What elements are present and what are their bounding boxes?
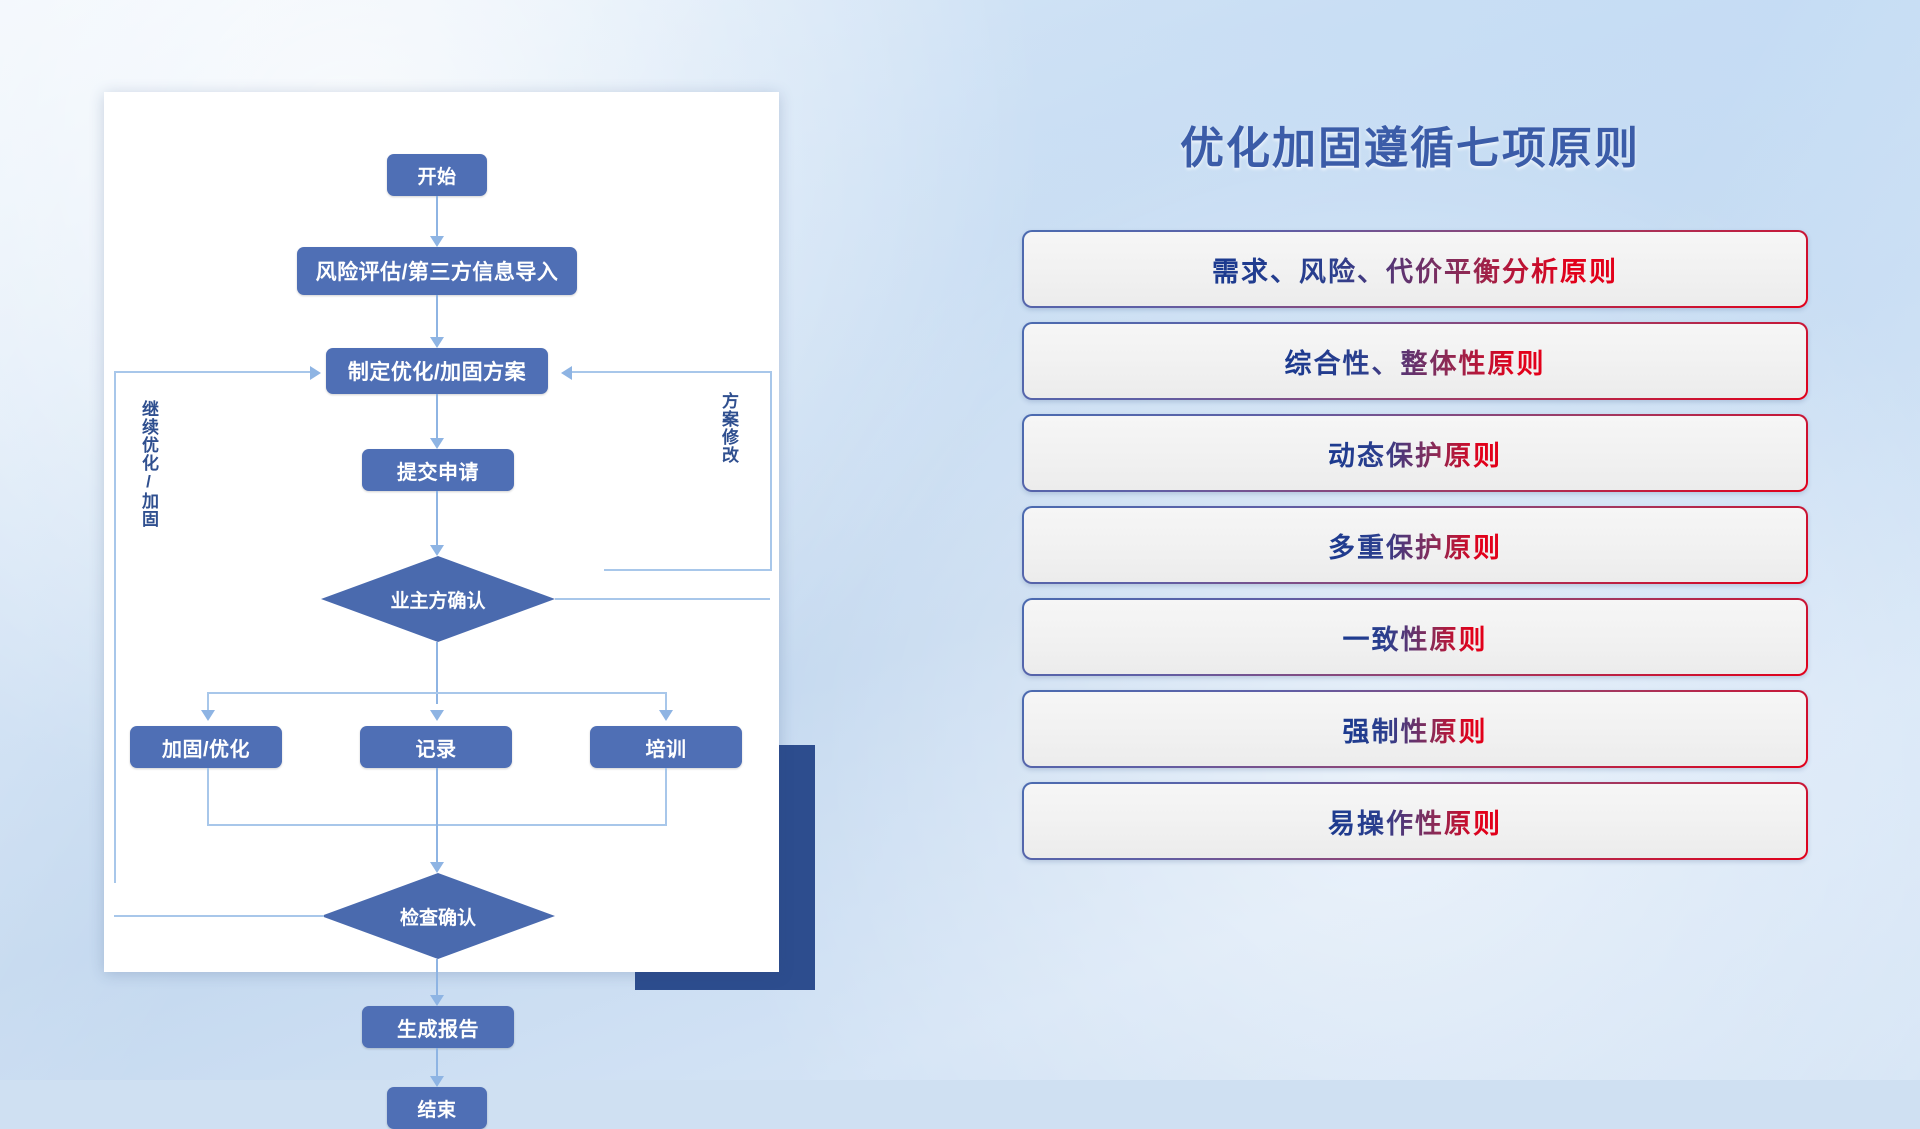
principle-card[interactable]: 易操作性原则 bbox=[1022, 782, 1808, 860]
connector-owner-right-loop bbox=[555, 598, 770, 600]
principle-label: 易操作性原则 bbox=[1328, 802, 1502, 841]
loop-left-vertical bbox=[114, 371, 116, 883]
flow-node-reinforce[interactable]: 加固/优化 bbox=[130, 726, 282, 768]
principle-card[interactable]: 综合性、整体性原则 bbox=[1022, 322, 1808, 400]
flowchart: 开始 风险评估/第三方信息导入 制定优化/加固方案 继续优化/加固 方案修改 提… bbox=[104, 92, 779, 972]
merge-left-down bbox=[207, 768, 209, 826]
flow-node-risk-assessment[interactable]: 风险评估/第三方信息导入 bbox=[297, 247, 577, 295]
arrow-down-icon bbox=[659, 710, 673, 721]
arrow-down-icon bbox=[201, 710, 215, 721]
loop-left-top bbox=[114, 371, 310, 373]
flow-node-owner-confirm[interactable]: 业主方确认 bbox=[321, 556, 555, 642]
flow-node-training[interactable]: 培训 bbox=[590, 726, 742, 768]
principle-card-inner: 需求、风险、代价平衡分析原则 bbox=[1024, 232, 1806, 306]
principle-card[interactable]: 多重保护原则 bbox=[1022, 506, 1808, 584]
principle-label: 强制性原则 bbox=[1343, 710, 1488, 749]
loop-right-vertical bbox=[770, 371, 772, 571]
principle-label: 需求、风险、代价平衡分析原则 bbox=[1212, 250, 1618, 289]
arrow-down-icon bbox=[430, 862, 444, 873]
arrow-down-icon bbox=[430, 545, 444, 556]
principle-card[interactable]: 动态保护原则 bbox=[1022, 414, 1808, 492]
flow-node-end[interactable]: 结束 bbox=[387, 1087, 487, 1129]
principle-label: 动态保护原则 bbox=[1328, 434, 1502, 473]
principle-card-inner: 综合性、整体性原则 bbox=[1024, 324, 1806, 398]
principle-card-inner: 强制性原则 bbox=[1024, 692, 1806, 766]
principle-card[interactable]: 一致性原则 bbox=[1022, 598, 1808, 676]
principle-label: 一致性原则 bbox=[1343, 618, 1488, 657]
flow-node-start[interactable]: 开始 bbox=[387, 154, 487, 196]
loop-right-top bbox=[572, 371, 772, 373]
principle-card[interactable]: 强制性原则 bbox=[1022, 690, 1808, 768]
arrow-down-icon bbox=[430, 1076, 444, 1087]
connector-owner-branchbus bbox=[436, 642, 438, 704]
flowchart-slide: 开始 风险评估/第三方信息导入 制定优化/加固方案 继续优化/加固 方案修改 提… bbox=[104, 92, 779, 972]
arrow-down-icon bbox=[430, 337, 444, 348]
principle-card-inner: 多重保护原则 bbox=[1024, 508, 1806, 582]
arrow-right-icon bbox=[310, 366, 321, 380]
flow-node-record[interactable]: 记录 bbox=[360, 726, 512, 768]
principle-label: 多重保护原则 bbox=[1328, 526, 1502, 565]
principle-label: 综合性、整体性原则 bbox=[1285, 342, 1546, 381]
principles-list: 需求、风险、代价平衡分析原则 综合性、整体性原则 动态保护原则 多重保护原则 一… bbox=[1022, 230, 1808, 874]
flow-node-check-confirm[interactable]: 检查确认 bbox=[321, 873, 555, 959]
flow-node-report[interactable]: 生成报告 bbox=[362, 1006, 514, 1048]
branch-bus-top bbox=[207, 692, 665, 694]
principle-card[interactable]: 需求、风险、代价平衡分析原则 bbox=[1022, 230, 1808, 308]
edge-label-continue-optimize: 继续优化/加固 bbox=[138, 400, 159, 528]
principle-card-inner: 易操作性原则 bbox=[1024, 784, 1806, 858]
arrow-down-icon bbox=[430, 438, 444, 449]
connector-plan-submit bbox=[436, 394, 438, 444]
connector-submit-owner bbox=[436, 491, 438, 551]
flow-node-plan[interactable]: 制定优化/加固方案 bbox=[326, 348, 548, 394]
flow-node-submit[interactable]: 提交申请 bbox=[362, 449, 514, 491]
arrow-down-icon bbox=[430, 236, 444, 247]
connector-risk-plan bbox=[436, 295, 438, 343]
arrow-down-icon bbox=[430, 710, 444, 721]
arrow-down-icon bbox=[430, 995, 444, 1006]
connector-record-check bbox=[436, 768, 438, 868]
merge-right-down bbox=[665, 768, 667, 826]
arrow-left-icon bbox=[561, 366, 572, 380]
edge-label-plan-revision: 方案修改 bbox=[718, 392, 739, 464]
connector-check-left-loop bbox=[114, 915, 324, 917]
panel-title: 优化加固遵循七项原则 bbox=[1030, 112, 1790, 176]
loop-right-bottom bbox=[604, 569, 772, 571]
principle-card-inner: 动态保护原则 bbox=[1024, 416, 1806, 490]
principle-card-inner: 一致性原则 bbox=[1024, 600, 1806, 674]
